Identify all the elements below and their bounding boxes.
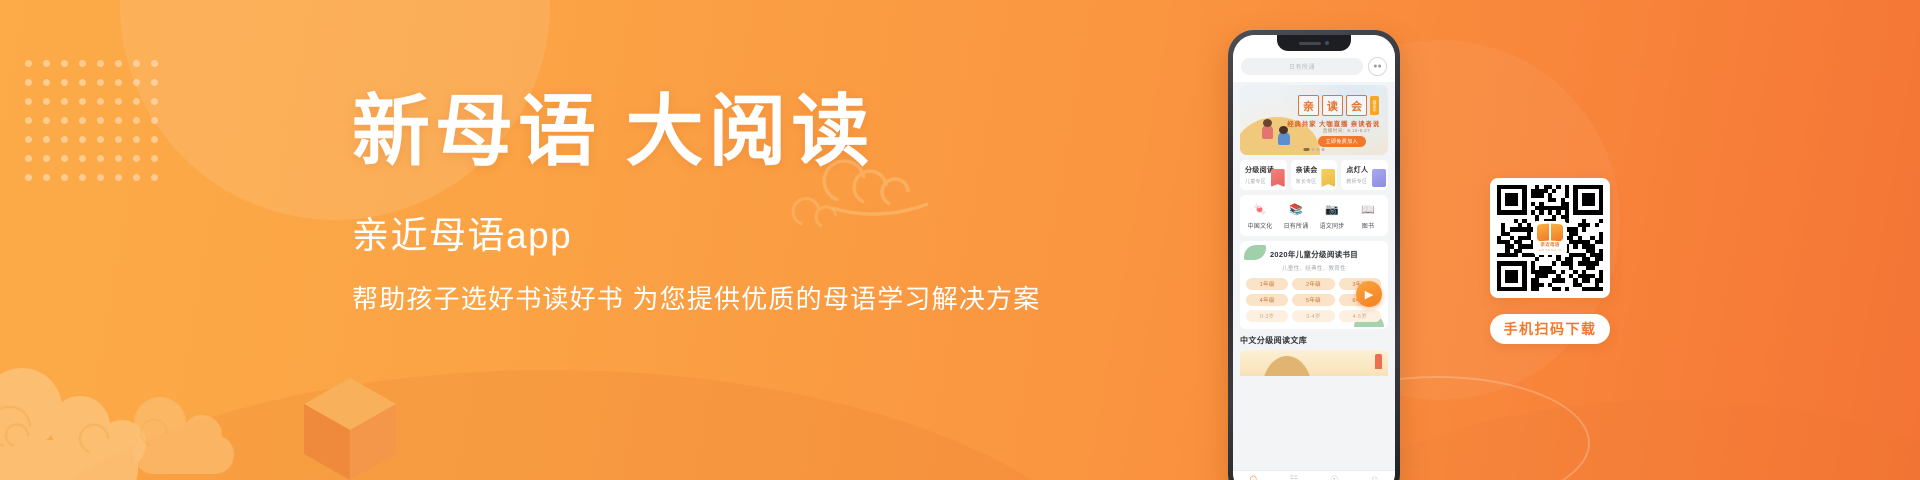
hero-carousel-dots[interactable] xyxy=(1304,148,1325,151)
hero-title-char: 亲 xyxy=(1298,95,1319,116)
qr-code[interactable]: 亲近母语 QIN JIN MU YU xyxy=(1490,178,1610,298)
hero-title-char: 会 xyxy=(1346,95,1367,116)
tab-reading[interactable]: ☷ 分级阅读 xyxy=(1274,475,1315,480)
camera-icon: 📷 xyxy=(1325,202,1340,217)
app-hero-banner[interactable]: 亲 读 会 报名中 经典共家 大咖直播 亲读者说 直播时间：9.16-9.27 … xyxy=(1240,85,1388,155)
brand-logo: 亲近母语 QIN JIN MU YU xyxy=(1533,221,1567,255)
quick-grid-label: 图书 xyxy=(1362,221,1374,230)
category-card[interactable]: 点灯人 教师专区 xyxy=(1341,160,1388,190)
quick-grid-item[interactable]: 📷 语文同步 xyxy=(1314,202,1350,230)
quick-grid-item[interactable]: 📚 日有所诵 xyxy=(1278,202,1314,230)
app-category-cards: 分级阅读 儿童专区 亲读会 家长专区 点灯人 教师专区 xyxy=(1240,160,1388,190)
app-name: 亲近母语app xyxy=(352,216,1052,257)
book-stack-icon: 📚 xyxy=(1289,202,1304,217)
hero-title-char: 读 xyxy=(1322,95,1343,116)
hero-subtitle: 经典共家 大咖直播 亲读者说 xyxy=(1287,118,1380,128)
qr-block: 亲近母语 QIN JIN MU YU 手机扫码下载 xyxy=(1490,178,1610,344)
tagline: 帮助孩子选好书读好书 为您提供优质的母语学习解决方案 xyxy=(352,284,1052,315)
phone-mockup: 日有所诵 ●● 亲 读 会 报名中 经典共家 大咖直播 亲读者说 直播时间：9.… xyxy=(1228,30,1400,480)
app-search-input[interactable]: 日有所诵 xyxy=(1241,58,1363,75)
booklist-subtitle: 儿童性、经典性、教育性 xyxy=(1246,264,1382,272)
library-marker xyxy=(1375,354,1382,369)
wave-decoration-left xyxy=(0,370,1140,480)
hero-side-tag: 报名中 xyxy=(1370,96,1379,115)
quick-grid-item[interactable]: 🍬 中国文化 xyxy=(1242,202,1278,230)
book-icon: 📖 xyxy=(1361,202,1376,217)
copy-block: 新母语 大阅读 亲近母语app 帮助孩子选好书读好书 为您提供优质的母语学习解决… xyxy=(352,92,1052,315)
quick-grid-label: 语文同步 xyxy=(1320,221,1345,230)
quick-grid-item[interactable]: 📖 图书 xyxy=(1350,202,1386,230)
quick-grid-label: 日有所诵 xyxy=(1284,221,1309,230)
hero-join-button[interactable]: 立即免费加入 xyxy=(1318,136,1366,147)
phone-screen: 日有所诵 ●● 亲 读 会 报名中 经典共家 大咖直播 亲读者说 直播时间：9.… xyxy=(1233,35,1395,480)
app-quick-grid: 🍬 中国文化 📚 日有所诵 📷 语文同步 📖 图书 xyxy=(1240,195,1388,236)
tab-profile[interactable]: ☺ 我的 xyxy=(1355,475,1396,480)
grade-tag[interactable]: 1年级 xyxy=(1246,278,1288,290)
hero-date: 直播时间：9.16-9.27 xyxy=(1323,128,1370,134)
grade-tag[interactable]: 5年级 xyxy=(1292,294,1334,306)
play-video-icon[interactable]: ▶ xyxy=(1356,281,1382,307)
app-booklist-section: 2020年儿童分级阅读书目 儿童性、经典性、教育性 1年级 2年级 3年级 4年… xyxy=(1240,241,1388,329)
library-arc xyxy=(1262,356,1312,376)
cloud-icon-bottom-mid xyxy=(120,379,270,474)
category-card[interactable]: 亲读会 家长专区 xyxy=(1291,160,1338,190)
hero-child-right xyxy=(1278,132,1290,145)
message-icon[interactable]: ●● xyxy=(1368,57,1387,76)
hero-title: 亲 读 会 报名中 xyxy=(1298,95,1379,116)
download-button[interactable]: 手机扫码下载 xyxy=(1490,314,1610,344)
quick-grid-label: 中国文化 xyxy=(1248,221,1273,230)
grade-tag[interactable]: 2年级 xyxy=(1292,278,1334,290)
booklist-title: 2020年儿童分级阅读书目 xyxy=(1246,249,1382,260)
library-title: 中文分级阅读文库 xyxy=(1240,335,1388,346)
person-icon xyxy=(1372,169,1386,187)
cloud-icon-bottom-left xyxy=(0,348,200,480)
ink-brush-icon: 🍬 xyxy=(1253,202,1268,217)
age-tag[interactable]: 3-4岁 xyxy=(1292,310,1334,322)
age-tag[interactable]: 4-5岁 xyxy=(1339,310,1381,322)
phone-notch xyxy=(1277,35,1351,51)
open-book-icon xyxy=(1537,224,1563,241)
camera-icon xyxy=(1325,41,1329,45)
profile-icon: ☺ xyxy=(1370,475,1379,480)
brand-name: 亲近母语 xyxy=(1540,242,1559,248)
cube-decoration xyxy=(300,370,400,480)
brand-name-en: QIN JIN MU YU xyxy=(1539,249,1561,252)
promo-banner: 新母语 大阅读 亲近母语app 帮助孩子选好书读好书 为您提供优质的母语学习解决… xyxy=(0,0,1920,480)
category-card[interactable]: 分级阅读 儿童专区 xyxy=(1240,160,1287,190)
age-tag[interactable]: 0-3岁 xyxy=(1246,310,1288,322)
app-tabbar: ☖ 首页 ☷ 分级阅读 ☉ 发现 ☺ 我的 xyxy=(1233,470,1395,480)
home-icon: ☖ xyxy=(1249,475,1257,480)
page-title: 新母语 大阅读 xyxy=(352,92,1052,172)
reading-icon: ☷ xyxy=(1290,475,1298,480)
grade-tag[interactable]: 4年级 xyxy=(1246,294,1288,306)
library-card[interactable] xyxy=(1240,350,1388,376)
discover-icon: ☉ xyxy=(1330,475,1338,480)
tab-discover[interactable]: ☉ 发现 xyxy=(1314,475,1355,480)
speaker-icon xyxy=(1299,42,1321,45)
tab-home[interactable]: ☖ 首页 xyxy=(1233,475,1274,480)
hero-child-left xyxy=(1262,125,1273,139)
dot-grid-decoration xyxy=(25,60,169,193)
